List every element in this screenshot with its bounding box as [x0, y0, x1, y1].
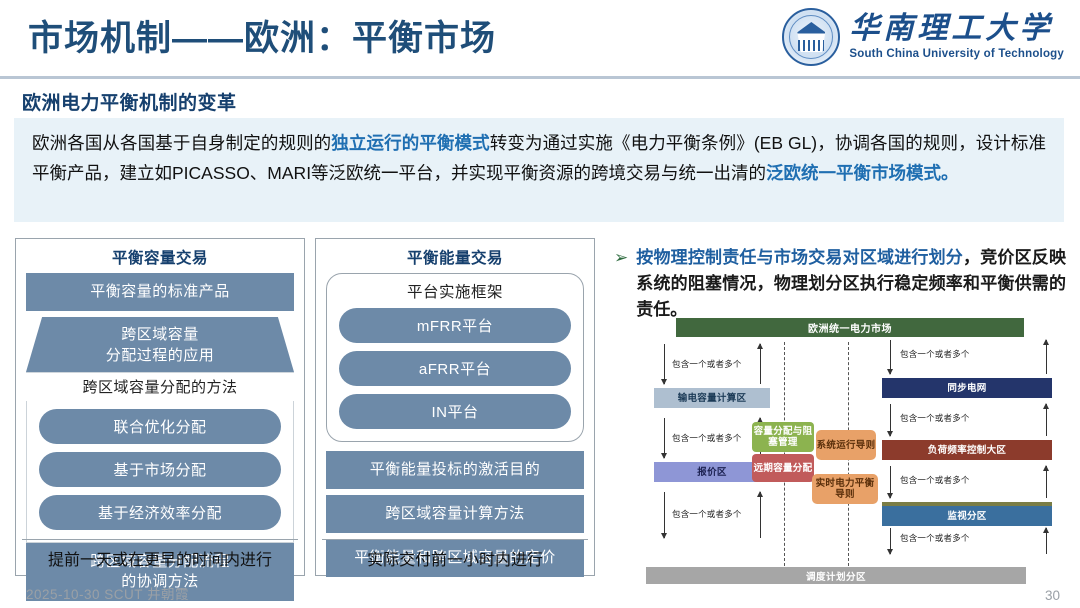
- box-forward-capacity-allocation-label: 远期容量分配: [754, 463, 813, 474]
- box-bidding-zone-label: 报价区: [697, 467, 726, 478]
- capacity-pill-1: 基于市场分配: [39, 452, 281, 487]
- european-market-zone-diagram: 欧洲统一电力市场 包含一个或者多个 输电容量计算区 包含一个或者多个 报价区 包…: [636, 318, 1068, 584]
- bullet-text: 按物理控制责任与市场交易对区域进行划分，竞价区反映系统的阻塞情况，物理划分区执行…: [636, 245, 1066, 323]
- bullet-arrow-icon: ➢: [614, 245, 628, 323]
- arrow-down-right-4: [890, 528, 891, 554]
- paragraph-highlight-2: 泛欧统一平衡市场模式。: [766, 163, 959, 183]
- box-capacity-allocation-congestion: 容量分配与阻塞管理: [752, 422, 814, 452]
- note-right-1: 包含一个或者多个: [900, 348, 970, 360]
- intro-paragraph-text: 欧洲各国从各国基于自身制定的规则的独立运行的平衡模式转变为通过实施《电力平衡条例…: [32, 128, 1046, 188]
- box-transmission-capacity-zone-label: 输电容量计算区: [678, 393, 747, 404]
- university-logo: 华南理工大学 South China University of Technol…: [782, 8, 1064, 66]
- capacity-method-list: 联合优化分配 基于市场分配 基于经济效率分配: [26, 401, 294, 543]
- zone-division-bullet: ➢ 按物理控制责任与市场交易对区域进行划分，竞价区反映系统的阻塞情况，物理划分区…: [614, 245, 1066, 323]
- page-title: 市场机制——欧洲：平衡市场: [28, 10, 496, 61]
- box-system-operation-guideline-label: 系统运行导则: [817, 440, 876, 451]
- panel-energy-title: 平衡能量交易: [316, 239, 594, 273]
- footer-page-number: 30: [1045, 588, 1060, 603]
- platform-pill-0: mFRR平台: [339, 308, 571, 343]
- box-monitoring-area-visible: 监视分区: [882, 506, 1052, 526]
- footer-date-author: 2025-10-30 SCUT 井朝霞: [26, 583, 189, 603]
- balancing-energy-panel: 平衡能量交易 平台实施框架 mFRR平台 aFRR平台 IN平台 平衡能量投标的…: [315, 238, 595, 576]
- arrow-up-right-3: [1046, 466, 1047, 498]
- panel-capacity-footer: 提前一天或在更早的时间内进行: [22, 539, 298, 570]
- energy-bar-1: 跨区域容量计算方法: [326, 495, 584, 533]
- box-lfc-block: 负荷频率控制大区: [882, 440, 1052, 460]
- diagram-bottom-bar: 调度计划分区: [646, 567, 1026, 584]
- panel-capacity-title: 平衡容量交易: [16, 239, 304, 273]
- box-synchronous-grid-label: 同步电网: [947, 383, 986, 394]
- arrow-down-right-1: [890, 340, 891, 374]
- logo-text-group: 华南理工大学 South China University of Technol…: [849, 14, 1064, 61]
- panel-energy-footer: 实际交付前一小时内进行: [322, 539, 588, 570]
- logo-chinese-name: 华南理工大学: [849, 14, 1064, 44]
- arrow-down-left-3: [664, 492, 665, 538]
- box-realtime-balancing-guideline-label: 实时电力平衡导则: [812, 478, 878, 500]
- capacity-allocation-application-box: 跨区域容量分配过程的应用: [26, 317, 294, 372]
- box-monitoring-area-label: 监视分区: [947, 511, 986, 522]
- university-seal-icon: [782, 8, 840, 66]
- box-system-operation-guideline: 系统运行导则: [816, 430, 876, 460]
- slide-header: 市场机制——欧洲：平衡市场 华南理工大学 South China Univers…: [0, 0, 1080, 76]
- arrow-down-right-3: [890, 466, 891, 498]
- arrow-down-left-2: [664, 418, 665, 458]
- seal-columns-icon: [798, 40, 824, 51]
- capacity-pill-2: 基于经济效率分配: [39, 495, 281, 530]
- box-lfc-block-label: 负荷频率控制大区: [928, 445, 1006, 456]
- panel-energy-body: 平台实施框架 mFRR平台 aFRR平台 IN平台 平衡能量投标的激活目的 跨区…: [316, 273, 594, 577]
- note-right-4: 包含一个或者多个: [900, 532, 970, 544]
- header-divider: [0, 76, 1080, 79]
- platform-framework-frame: 平台实施框架 mFRR平台 aFRR平台 IN平台: [326, 273, 584, 442]
- box-synchronous-grid: 同步电网: [882, 378, 1052, 398]
- paragraph-part-1: 欧洲各国从各国基于自身制定的规则的: [32, 133, 331, 153]
- arrow-down-right-2: [890, 404, 891, 436]
- capacity-standard-product-box: 平衡容量的标准产品: [26, 273, 294, 311]
- arrow-up-right-4: [1046, 528, 1047, 554]
- section-heading: 欧洲电力平衡机制的变革: [22, 88, 237, 115]
- bullet-highlight: 按物理控制责任与市场交易对区域进行划分: [636, 248, 963, 267]
- arrow-down-left-1: [664, 344, 665, 384]
- platform-pill-1: aFRR平台: [339, 351, 571, 386]
- note-right-2: 包含一个或者多个: [900, 412, 970, 424]
- note-right-3: 包含一个或者多个: [900, 474, 970, 486]
- arrow-up-left-1: [760, 344, 761, 384]
- diagram-top-bar: 欧洲统一电力市场: [676, 318, 1024, 337]
- balancing-capacity-panel: 平衡容量交易 平衡容量的标准产品 跨区域容量分配过程的应用 跨区域容量分配的方法…: [15, 238, 305, 576]
- note-left-2: 包含一个或者多个: [672, 432, 742, 444]
- arrow-up-left-3: [760, 492, 761, 538]
- box-transmission-capacity-zone: 输电容量计算区: [654, 388, 770, 408]
- arrow-up-right-1: [1046, 340, 1047, 374]
- intro-paragraph-panel: 欧洲各国从各国基于自身制定的规则的独立运行的平衡模式转变为通过实施《电力平衡条例…: [14, 118, 1064, 222]
- note-left-3: 包含一个或者多个: [672, 508, 742, 520]
- energy-bar-0: 平衡能量投标的激活目的: [326, 451, 584, 489]
- box-forward-capacity-allocation: 远期容量分配: [752, 454, 814, 482]
- logo-english-name: South China University of Technology: [849, 49, 1064, 61]
- box-capacity-allocation-congestion-label: 容量分配与阻塞管理: [752, 426, 814, 448]
- note-left-1: 包含一个或者多个: [672, 358, 742, 370]
- box-realtime-balancing-guideline: 实时电力平衡导则: [812, 474, 878, 504]
- capacity-pill-0: 联合优化分配: [39, 409, 281, 444]
- platform-pill-2: IN平台: [339, 394, 571, 429]
- arrow-up-right-2: [1046, 404, 1047, 436]
- capacity-allocation-method-label: 跨区域容量分配的方法: [26, 372, 294, 401]
- paragraph-highlight-1: 独立运行的平衡模式: [331, 133, 489, 153]
- platform-framework-title: 平台实施框架: [339, 280, 571, 308]
